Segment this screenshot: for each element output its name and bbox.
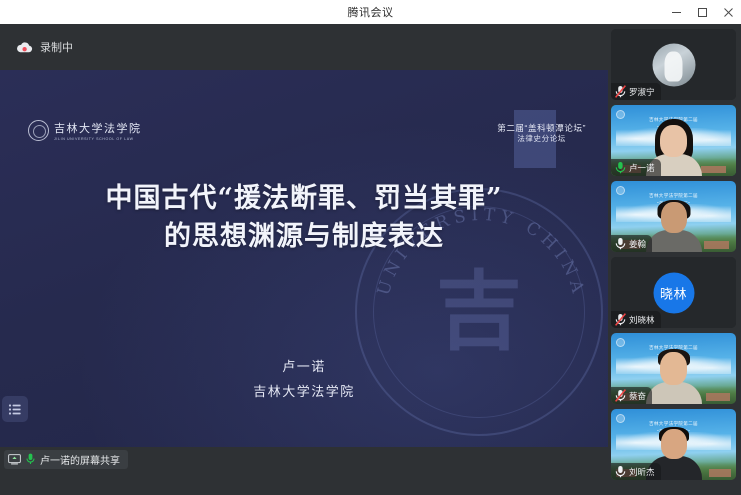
participant-name: 蔡奋 xyxy=(629,390,646,402)
minimize-icon[interactable] xyxy=(663,0,689,24)
participant-namebar: 罗淑宁 xyxy=(611,83,661,100)
slide-author-name: 卢一诺 xyxy=(0,355,608,380)
participant-namebar: 刘昕杰 xyxy=(611,463,661,480)
avatar: 晓林 xyxy=(653,272,694,313)
participant-tile[interactable]: 罗淑宁 xyxy=(611,29,736,100)
slide-logo-en: JILIN UNIVERSITY SCHOOL OF LAW xyxy=(54,137,142,141)
recording-indicator[interactable]: 录制中 xyxy=(16,39,73,55)
participant-name: 刘昕杰 xyxy=(629,466,655,478)
close-icon[interactable] xyxy=(715,0,741,24)
window-titlebar: 腾讯会议 xyxy=(0,0,741,24)
mic-muted-icon xyxy=(615,313,626,326)
window-controls xyxy=(663,0,741,24)
participant-video xyxy=(646,347,702,404)
participant-namebar: 卢一诺 xyxy=(611,159,661,176)
tencent-meeting-window: 腾讯会议 xyxy=(0,0,741,495)
recording-bar: 录制中 xyxy=(0,24,608,70)
window-title: 腾讯会议 xyxy=(348,4,394,20)
participant-rail[interactable]: 罗淑宁 吉林大学法学院第二届 “盖科顿潭论坛” xyxy=(608,24,741,495)
mic-muted-icon xyxy=(615,389,626,402)
slide-author-block: 卢一诺 吉林大学法学院 xyxy=(0,355,608,406)
tile-status-badge xyxy=(616,338,625,347)
slide-title-line2: 的思想渊源与制度表达 xyxy=(0,218,608,256)
tile-status-badge xyxy=(616,186,625,195)
slide-logo-cn: 吉林大学法学院 xyxy=(54,120,142,136)
university-crest-icon xyxy=(28,120,49,141)
slide-author-affiliation: 吉林大学法学院 xyxy=(0,380,608,405)
mic-on-icon xyxy=(615,237,626,250)
tile-status-badge xyxy=(616,414,625,423)
screen-share-stage: 录制中 UNIVERSITY CHINA xyxy=(0,24,608,471)
participant-namebar: 蔡奋 xyxy=(611,387,652,404)
avatar xyxy=(652,43,695,86)
mic-muted-icon xyxy=(615,85,626,98)
forum-tag: 第二届“盖科顿潭论坛” 法律史分论坛 xyxy=(497,122,586,145)
participant-video xyxy=(646,196,702,252)
seal-glyph: 吉 xyxy=(436,269,522,355)
participant-name: 罗淑宁 xyxy=(629,86,655,98)
cloud-recording-icon xyxy=(16,41,33,54)
forum-tag-line1: 第二届“盖科顿潭论坛” xyxy=(497,122,586,134)
mic-on-icon xyxy=(615,161,626,174)
participant-tile[interactable]: 晓林 刘晓林 xyxy=(611,257,736,328)
participant-tile[interactable]: 吉林大学法学院第二届 “盖科顿潭论坛” xyxy=(611,181,736,252)
slide-title-line1: 中国古代“援法断罪、罚当其罪” xyxy=(0,180,608,218)
maximize-icon[interactable] xyxy=(689,0,715,24)
meeting-body: 录制中 UNIVERSITY CHINA xyxy=(0,24,741,495)
participant-namebar: 姜翰 xyxy=(611,235,652,252)
participant-name: 卢一诺 xyxy=(629,162,655,174)
share-status-bar: 卢一诺的屏幕共享 xyxy=(0,447,608,471)
participant-tile[interactable]: 吉林大学法学院第二届 “盖科顿潭论坛” xyxy=(611,333,736,404)
share-status-label: 卢一诺的屏幕共享 xyxy=(40,452,120,467)
participant-name: 刘晓林 xyxy=(629,314,655,326)
slide-logo: 吉林大学法学院 JILIN UNIVERSITY SCHOOL OF LAW xyxy=(28,120,142,141)
screen-share-icon xyxy=(8,454,21,465)
presentation-slide[interactable]: UNIVERSITY CHINA 吉 吉林大学法学院 JILIN UNIVERS… xyxy=(0,70,608,455)
participant-namebar: 刘晓林 xyxy=(611,311,661,328)
participant-name: 姜翰 xyxy=(629,238,646,250)
participant-tile[interactable]: 吉林大学法学院第二届 “盖科顿潭论坛” xyxy=(611,105,736,176)
mic-on-icon xyxy=(615,465,626,478)
forum-tag-line2: 法律史分论坛 xyxy=(497,134,586,145)
share-status-chip[interactable]: 卢一诺的屏幕共享 xyxy=(4,450,128,469)
mic-on-icon xyxy=(26,453,35,465)
slide-list-icon[interactable] xyxy=(2,396,28,422)
tile-status-badge xyxy=(616,110,625,119)
participant-tile[interactable]: 吉林大学法学院第二届 “盖科顿潭论坛” xyxy=(611,409,736,480)
recording-label: 录制中 xyxy=(40,39,73,55)
slide-title: 中国古代“援法断罪、罚当其罪” 的思想渊源与制度表达 xyxy=(0,180,608,257)
